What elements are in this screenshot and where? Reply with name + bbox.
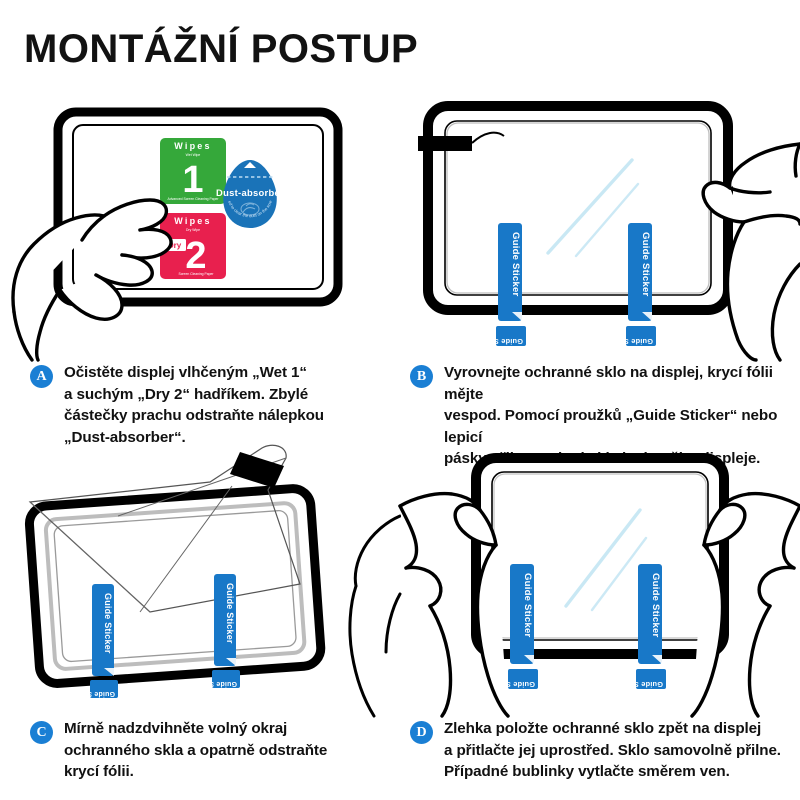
hand-left-d <box>400 494 508 716</box>
guide-sticker-label: Guide Sticker <box>103 593 113 654</box>
wipes-wet-footer: Advanced Screen Cleaning Paper <box>167 197 219 201</box>
wipes-dry-number: 2 <box>185 235 206 277</box>
step-text-d: Zlehka položte ochranné sklo zpět na dis… <box>444 718 781 783</box>
instruction-sheet: MONTÁŽNÍ POSTUP Wipes Wet Wipe 1 Advance… <box>0 0 800 800</box>
hand-right-c <box>350 516 400 716</box>
illustration-step-c: Guide Sticker Guide Sticker Guide Sticke… <box>0 444 400 716</box>
step-text-c: Mírně nadzdvihněte volný okraj ochrannéh… <box>64 718 327 783</box>
tablet-device-c <box>28 487 322 684</box>
tablet-device-b <box>428 106 728 310</box>
guide-sticker-tab-label: Guide Sticker <box>613 680 663 689</box>
guide-sticker-label: Guide Sticker <box>650 573 661 638</box>
illustration-step-a: Wipes Wet Wipe 1 Advanced Screen Cleanin… <box>0 88 400 360</box>
hand-left-a <box>13 200 171 360</box>
step-text-a: Očistěte displej vlhčeným „Wet 1“ a such… <box>64 362 324 448</box>
guide-sticker-label: Guide Sticker <box>225 583 235 644</box>
dust-absorber-label: Dust-absorber <box>216 187 284 198</box>
guide-sticker-label: Guide Sticker <box>640 232 651 297</box>
step-panel-c: Guide Sticker Guide Sticker Guide Sticke… <box>0 444 400 800</box>
step-panel-b: Guide Sticker Guide Sticker Guide Sticke… <box>400 88 800 444</box>
guide-sticker-label: Guide Sticker <box>510 232 521 297</box>
hand-right-d <box>692 494 800 716</box>
guide-sticker-label: Guide Sticker <box>522 573 533 638</box>
wipes-dry-subtitle: Dry Wipe <box>186 228 200 232</box>
wipes-wet-subtitle: Wet Wipe <box>186 153 201 157</box>
caption-step-c: C Mírně nadzdvihněte volný okraj ochrann… <box>0 718 400 783</box>
wipes-dry-footer: Screen Cleaning Paper <box>178 272 214 276</box>
guide-sticker-tab-label: Guide Sticker <box>67 690 115 697</box>
step-badge-b: B <box>410 365 433 388</box>
caption-step-a: A Očistěte displej vlhčeným „Wet 1“ a su… <box>0 362 400 448</box>
guide-sticker-tab-label: Guide Sticker <box>189 680 237 687</box>
step-panel-d: Guide Sticker Guide Sticker Guide Sticke… <box>400 444 800 800</box>
step-badge-c: C <box>30 721 53 744</box>
step-panel-a: Wipes Wet Wipe 1 Advanced Screen Cleanin… <box>0 88 400 444</box>
wipes-wet-number: 1 <box>182 159 203 201</box>
illustration-step-d: Guide Sticker Guide Sticker Guide Sticke… <box>400 444 800 716</box>
guide-sticker-tab-label: Guide Sticker <box>603 337 653 346</box>
illustration-step-b: Guide Sticker Guide Sticker Guide Sticke… <box>400 88 800 360</box>
page-title: MONTÁŽNÍ POSTUP <box>24 26 418 72</box>
wipes-dry-brand: Wipes <box>174 216 211 226</box>
wipes-wet-brand: Wipes <box>174 141 211 151</box>
step-badge-a: A <box>30 365 53 388</box>
step-badge-d: D <box>410 721 433 744</box>
caption-step-d: D Zlehka položte ochranné sklo zpět na d… <box>400 718 800 783</box>
guide-sticker-tab-label: Guide Sticker <box>473 337 523 346</box>
pull-tab-c <box>230 452 284 488</box>
